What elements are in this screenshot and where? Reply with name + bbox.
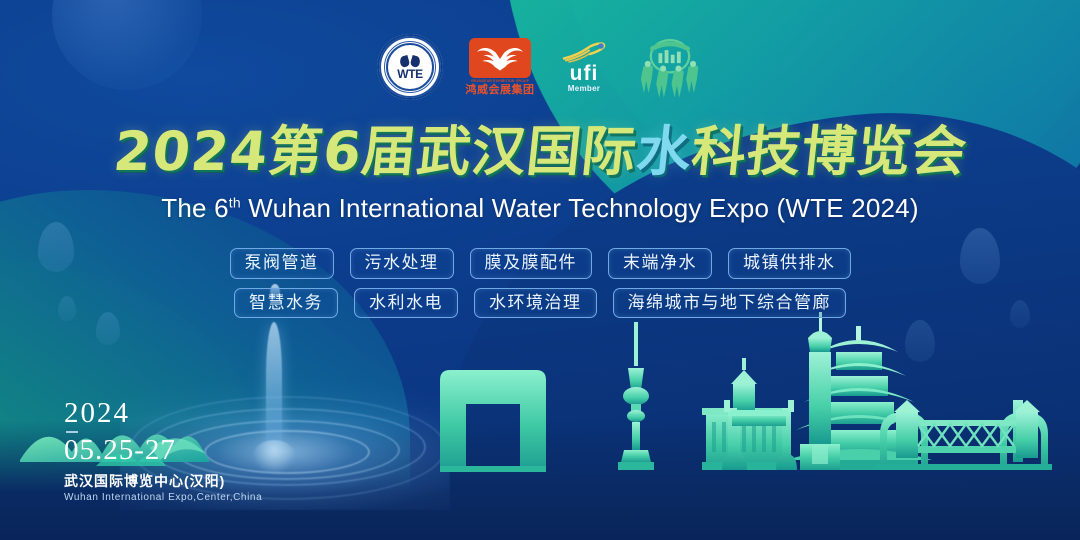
subtitle-rest: Wuhan International Water Technology Exp… [241, 193, 919, 223]
title-prefix: 2024第6届武汉国际 [110, 120, 639, 183]
event-venue-en: Wuhan International Expo,Center,China [64, 492, 262, 504]
tag-urban-water-supply-drainage[interactable]: 城镇供排水 [728, 248, 851, 279]
ufi-logo-text: ufi [570, 64, 599, 84]
tag-sewage-treatment[interactable]: 污水处理 [350, 248, 454, 279]
logo-strip: WTE GRANDEUR EXHIBITION GROUP 鸿威会展集团 ufi [0, 34, 1080, 100]
wte-logo: WTE [377, 34, 443, 100]
subtitle-ordinal: th [229, 194, 241, 210]
divider [66, 431, 78, 433]
tag-pump-valve-pipe[interactable]: 泵阀管道 [230, 248, 334, 279]
tag-sponge-city-utility-tunnel[interactable]: 海绵城市与地下综合管廊 [613, 288, 847, 319]
wte-logo-text: WTE [397, 68, 422, 80]
ceg-logo [637, 36, 703, 98]
tag-terminal-water-purification[interactable]: 末端净水 [608, 248, 712, 279]
subtitle: The 6th Wuhan International Water Techno… [0, 193, 1080, 224]
event-venue-cn: 武汉国际博览中心(汉阳) [64, 473, 262, 490]
hongwei-logo-cn: 鸿威会展集团 [466, 85, 535, 97]
title-highlight-water: 水 [633, 120, 695, 183]
topic-tags: 泵阀管道 污水处理 膜及膜配件 末端净水 城镇供排水 智慧水务 水利水电 水环境… [0, 248, 1080, 327]
hongwei-logo: GRANDEUR EXHIBITION GROUP 鸿威会展集团 [469, 38, 531, 97]
ufi-wing-icon [561, 41, 607, 63]
topic-tags-row-2: 智慧水务 水利水电 水环境治理 海绵城市与地下综合管廊 [0, 288, 1080, 319]
hongwei-logo-en: GRANDEUR EXHIBITION GROUP [471, 80, 529, 83]
ufi-logo: ufi Member [557, 41, 611, 93]
phoenix-w-icon [469, 38, 531, 78]
tag-hydropower[interactable]: 水利水电 [354, 288, 458, 319]
exhibition-emblem-icon [637, 36, 703, 98]
event-dates: 05.25-27 [64, 435, 262, 465]
subtitle-lead: The 6 [161, 193, 229, 223]
wte-waterdrop-circle-icon: WTE [377, 34, 443, 100]
page-title: 2024第6届武汉国际水科技博览会 [0, 125, 1080, 179]
poster-canvas: WTE GRANDEUR EXHIBITION GROUP 鸿威会展集团 ufi [0, 0, 1080, 540]
water-column-icon [266, 322, 282, 454]
topic-tags-row-1: 泵阀管道 污水处理 膜及膜配件 末端净水 城镇供排水 [0, 248, 1080, 279]
tag-water-environment-governance[interactable]: 水环境治理 [474, 288, 597, 319]
title-suffix: 科技博览会 [688, 120, 970, 183]
tag-smart-water[interactable]: 智慧水务 [234, 288, 338, 319]
event-year: 2024 [64, 398, 262, 428]
tag-membrane-parts[interactable]: 膜及膜配件 [470, 248, 593, 279]
ufi-member-label: Member [568, 85, 600, 93]
event-details: 2024 05.25-27 武汉国际博览中心(汉阳) Wuhan Interna… [64, 398, 262, 504]
